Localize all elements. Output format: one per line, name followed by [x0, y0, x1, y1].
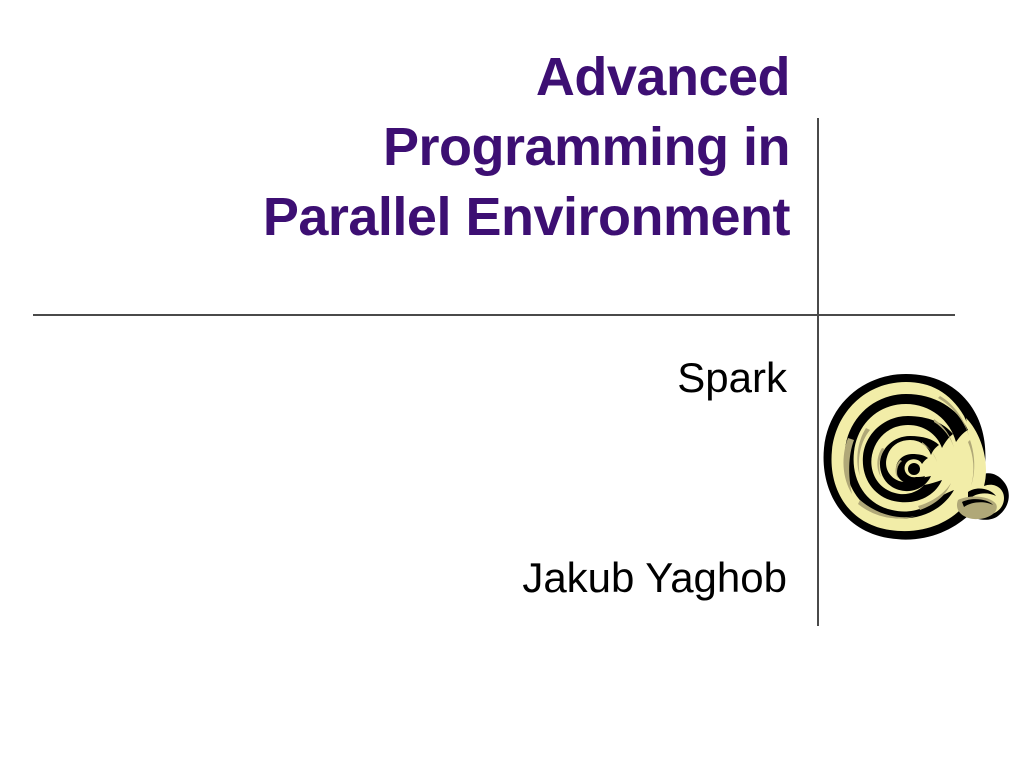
page-title: Advanced Programming in Parallel Environ… [0, 42, 790, 252]
title-line-1: Advanced [0, 42, 790, 112]
slide-author: Jakub Yaghob [0, 552, 787, 604]
slide-subtitle: Spark [0, 352, 787, 404]
title-line-3: Parallel Environment [0, 182, 790, 252]
snail-shell-icon [818, 372, 1014, 548]
title-line-2: Programming in [0, 112, 790, 182]
title-slide: Advanced Programming in Parallel Environ… [0, 0, 1024, 768]
